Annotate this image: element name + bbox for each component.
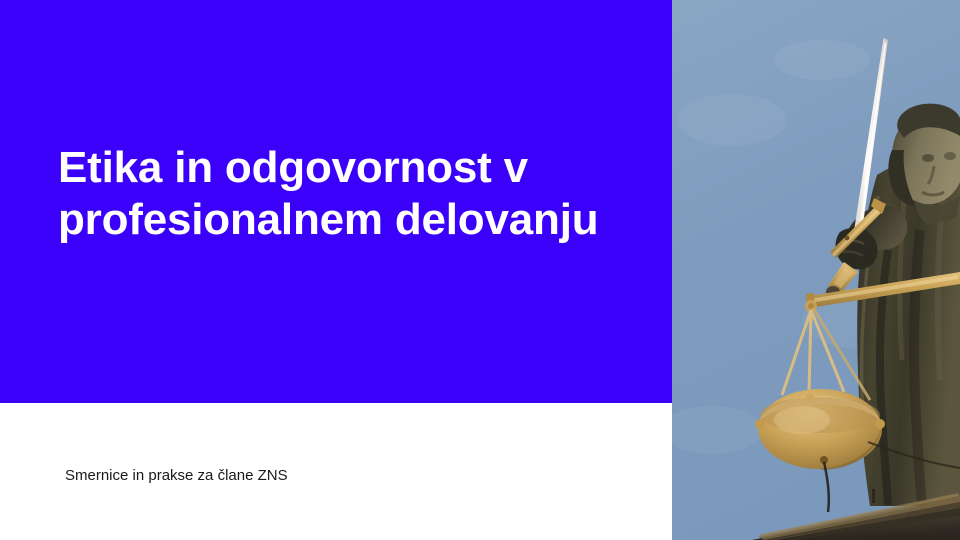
justice-statue-illustration xyxy=(672,0,960,540)
presentation-slide: Etika in odgovornost v profesionalnem de… xyxy=(0,0,960,540)
justice-statue-photo xyxy=(672,0,960,540)
page-title: Etika in odgovornost v profesionalnem de… xyxy=(58,142,658,247)
title-panel: Etika in odgovornost v profesionalnem de… xyxy=(0,0,672,403)
slide-subtitle: Smernice in prakse za člane ZNS xyxy=(65,466,288,486)
title-block: Etika in odgovornost v profesionalnem de… xyxy=(58,142,658,247)
